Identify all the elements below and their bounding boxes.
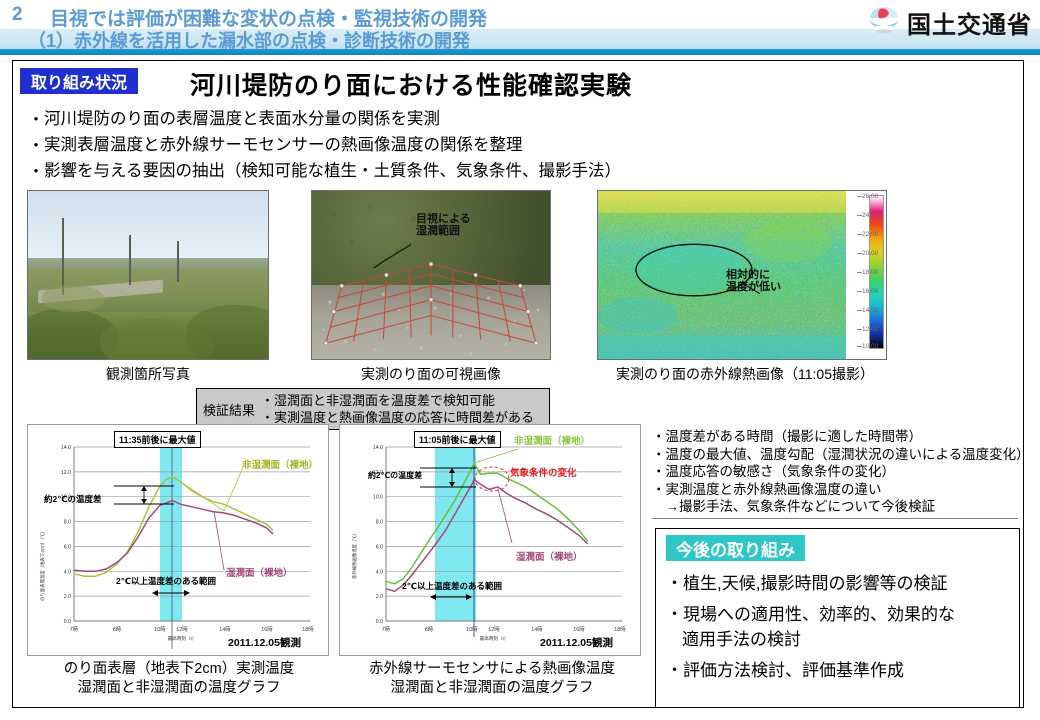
- colorbar-tick: 12.00: [862, 326, 878, 333]
- photo-visible-image: 目視による 湿潤範囲: [311, 190, 551, 360]
- chart-observation-date: 2011.12.05観測: [540, 635, 613, 650]
- chart-right-svg: 14.012.010.0 8.06.04.0 2.00.0 7時8時10時 12…: [340, 425, 640, 655]
- colorbar-tick: 10.00: [862, 343, 878, 350]
- svg-text:14.0: 14.0: [61, 445, 71, 451]
- svg-text:12時: 12時: [488, 626, 500, 633]
- bullet-text: 影響を与える要因の抽出（検知可能な植生・土質条件、気象条件、撮影手法）: [44, 160, 621, 182]
- findings-item: ・温度差がある時間（撮影に適した時間帯）: [652, 428, 1024, 446]
- svg-text:18時: 18時: [302, 626, 314, 633]
- bullet-dot-icon: •: [28, 134, 44, 156]
- svg-text:12.0: 12.0: [61, 470, 71, 476]
- annotation-line-1: 相対的に: [726, 269, 781, 281]
- annotation-line-1: 目視による: [416, 213, 471, 225]
- list-item: • 影響を与える要因の抽出（検知可能な植生・土質条件、気象条件、撮影手法）: [28, 160, 728, 182]
- svg-text:14時: 14時: [219, 626, 231, 633]
- chart-caption-line2: 湿潤面と非湿潤面の温度グラフ: [333, 679, 651, 698]
- colorbar-tick: 14.00: [862, 307, 878, 314]
- thermal-colorbar-scale: 26.00 24.00 22.00 20.00 18.00 16.00 14.0…: [845, 191, 887, 353]
- findings-item: ・温度の最大値、温度勾配（湿潤状況の違いによる温度変化）: [652, 446, 1024, 464]
- svg-text:16時: 16時: [573, 626, 585, 633]
- future-work-box: 今後の取り組み ・植生,天候,撮影時間の影響等の検証 ・現場への適用性、効率的、…: [655, 528, 1020, 708]
- chart-legend-dry-surface: 非湿潤面（裸地）: [514, 433, 590, 447]
- ministry-branding: 国土交通省: [868, 2, 1032, 42]
- page-title: 河川堤防のり面における性能確認実験: [190, 66, 632, 102]
- chart-annotation-range: 2℃以上温度差のある範囲: [402, 580, 502, 592]
- svg-text:10.0: 10.0: [373, 495, 383, 501]
- chart-annotation-weather-change: 気象条件の変化: [510, 465, 577, 479]
- photo-observation-site: [27, 190, 269, 360]
- list-item: • 河川堤防のり面の表層温度と表面水分量の関係を実測: [28, 108, 728, 130]
- chart-right-thermal-image-temperature: 14.012.010.0 8.06.04.0 2.00.0 7時8時10時 12…: [339, 424, 641, 656]
- chart-annotation-range: 2℃以上温度差のある範囲: [116, 575, 216, 587]
- mlit-logo-icon: [868, 6, 900, 38]
- svg-text:6.0: 6.0: [376, 544, 383, 550]
- bullet-dot-icon: •: [28, 160, 44, 182]
- future-work-badge: 今後の取り組み: [666, 535, 805, 561]
- chart-annotation-temp-diff: 約2℃の温度差: [368, 470, 422, 481]
- verification-lines: ・湿潤面と非湿潤面を温度差で検知可能 ・実測温度と熱画像温度の応答に時間差がある: [261, 392, 534, 426]
- svg-text:10時: 10時: [154, 626, 166, 633]
- svg-text:8時: 8時: [113, 626, 122, 633]
- svg-text:8.0: 8.0: [376, 520, 383, 526]
- svg-text:16時: 16時: [261, 626, 273, 633]
- svg-text:18時: 18時: [614, 626, 626, 633]
- status-badge: 取り組み状況: [20, 68, 138, 94]
- svg-text:14.0: 14.0: [373, 445, 383, 451]
- chart-annotation-temp-diff: 約2℃の温度差: [44, 493, 102, 505]
- photo-utility-pole: [129, 235, 131, 285]
- svg-text:2.0: 2.0: [376, 594, 383, 600]
- findings-item-conclusion: →撮影手法、気象条件などについて今後検証: [652, 498, 1024, 516]
- colorbar-tick: 26.00: [862, 193, 878, 200]
- chart-annotation-peak: 11:35前後に最大値: [114, 431, 201, 448]
- thermal-map: [598, 191, 846, 359]
- future-work-item: ・植生,天候,撮影時間の影響等の検証: [666, 571, 1014, 596]
- svg-text:0.0: 0.0: [376, 619, 383, 625]
- svg-text:7時: 7時: [382, 626, 391, 633]
- photo-grass-clump: [186, 305, 269, 360]
- photo-utility-pole: [177, 241, 179, 281]
- bullet-text: 実測表層温度と赤外線サーモセンサーの熱画像温度の関係を整理: [44, 134, 523, 156]
- photo-caption: 観測箇所写真: [27, 364, 269, 384]
- header-section-number: 2: [12, 4, 23, 26]
- colorbar-tick: 20.00: [862, 250, 878, 257]
- ministry-name: 国土交通省: [907, 5, 1032, 40]
- photo-annotation-low-temp: 相対的に 温度が低い: [726, 269, 781, 293]
- photo-utility-pole: [62, 218, 64, 295]
- findings-list: ・温度差がある時間（撮影に適した時間帯） ・温度の最大値、温度勾配（湿潤状況の違…: [652, 428, 1024, 516]
- annotation-line-2: 温度が低い: [726, 281, 781, 293]
- colorbar-tick: 16.00: [862, 288, 878, 295]
- chart-caption-line2: 湿潤面と非湿潤面の温度グラフ: [20, 679, 338, 698]
- future-work-item: ・評価方法検討、評価基準作成: [666, 658, 1014, 683]
- findings-item: ・温度応答の敏感さ（気象条件の変化）: [652, 463, 1024, 481]
- svg-text:4.0: 4.0: [64, 569, 71, 575]
- photo-grass-clump: [42, 285, 104, 312]
- chart-caption-right: 赤外線サーモセンサによる熱画像温度 湿潤面と非湿潤面の温度グラフ: [333, 660, 651, 698]
- findings-item: ・実測温度と赤外線熱画像温度の違い: [652, 481, 1024, 499]
- annotation-line-2: 湿潤範囲: [416, 225, 471, 237]
- svg-text:4.0: 4.0: [376, 569, 383, 575]
- svg-text:8時: 8時: [425, 626, 434, 633]
- svg-text:のり面表層温度（地表下2cm）（℃）: のり面表層温度（地表下2cm）（℃）: [39, 529, 46, 601]
- future-work-list: ・植生,天候,撮影時間の影響等の検証 ・現場への適用性、効率的、効果的な 適用手…: [666, 571, 1014, 689]
- colorbar-tick: 18.00: [862, 269, 878, 276]
- svg-text:6.0: 6.0: [64, 544, 71, 550]
- svg-text:7時: 7時: [70, 626, 79, 633]
- chart-legend-wet-surface: 湿潤面（裸地）: [226, 565, 293, 579]
- future-work-item-continuation: 適用手法の検討: [666, 627, 1014, 652]
- colorbar-tick: 22.00: [862, 231, 878, 238]
- verification-line-1: ・湿潤面と非湿潤面を温度差で検知可能: [261, 392, 534, 409]
- photo-caption: 実測のり面の可視画像: [311, 364, 551, 384]
- colorbar-tick: 24.00: [862, 212, 878, 219]
- photo-infrared-thermal-image: 相対的に 温度が低い 26.00 24.00 22.00 20.00 18.00…: [597, 190, 887, 360]
- chart-caption-left: のり面表層（地表下2cm）実測温度 湿潤面と非湿潤面の温度グラフ: [20, 660, 338, 698]
- verification-label: 検証結果: [203, 400, 255, 419]
- svg-text:12時: 12時: [176, 626, 188, 633]
- bullet-dot-icon: •: [28, 108, 44, 130]
- chart-caption-line1: のり面表層（地表下2cm）実測温度: [20, 660, 338, 679]
- svg-text:最高時刻（t）: 最高時刻（t）: [168, 635, 197, 642]
- bullet-list: • 河川堤防のり面の表層温度と表面水分量の関係を実測 • 実測表層温度と赤外線サ…: [28, 108, 728, 186]
- svg-text:2.0: 2.0: [64, 594, 71, 600]
- chart-legend-wet-surface: 湿潤面（裸地）: [516, 549, 583, 563]
- chart-annotation-peak: 11:05前後に最大値: [414, 431, 501, 448]
- header-title-line2: （1）赤外線を活用した漏水部の点検・診断技術の開発: [28, 27, 470, 53]
- bullet-text: 河川堤防のり面の表層温度と表面水分量の関係を実測: [44, 108, 440, 130]
- chart-caption-line1: 赤外線サーモセンサによる熱画像温度: [333, 660, 651, 679]
- slide-header: 2 目視では評価が困難な変状の点検・監視技術の開発 （1）赤外線を活用した漏水部…: [0, 0, 1040, 56]
- svg-text:10時: 10時: [466, 626, 478, 633]
- svg-text:赤外線熱画像温度（℃）: 赤外線熱画像温度（℃）: [351, 531, 358, 579]
- svg-text:0.0: 0.0: [64, 619, 71, 625]
- chart-left-measured-temperature: 14.012.010.0 8.06.04.0 2.00.0 7時8時10時 12…: [27, 424, 329, 656]
- future-work-item: ・現場への適用性、効率的、効果的な: [666, 602, 1014, 627]
- svg-text:最高時刻（t）: 最高時刻（t）: [480, 635, 509, 642]
- photo-sky: [28, 191, 268, 268]
- chart-legend-dry-surface: 非湿潤面（裸地）: [242, 457, 318, 471]
- photo-caption: 実測のり面の赤外線熱画像（11:05撮影）: [580, 364, 910, 384]
- list-item: • 実測表層温度と赤外線サーモセンサーの熱画像温度の関係を整理: [28, 134, 728, 156]
- chart-observation-date: 2011.12.05観測: [228, 635, 301, 650]
- photo-annotation-wet-area: 目視による 湿潤範囲: [416, 213, 471, 237]
- findings-divider: [652, 518, 1018, 519]
- svg-text:8.0: 8.0: [64, 520, 71, 526]
- svg-text:14時: 14時: [531, 626, 543, 633]
